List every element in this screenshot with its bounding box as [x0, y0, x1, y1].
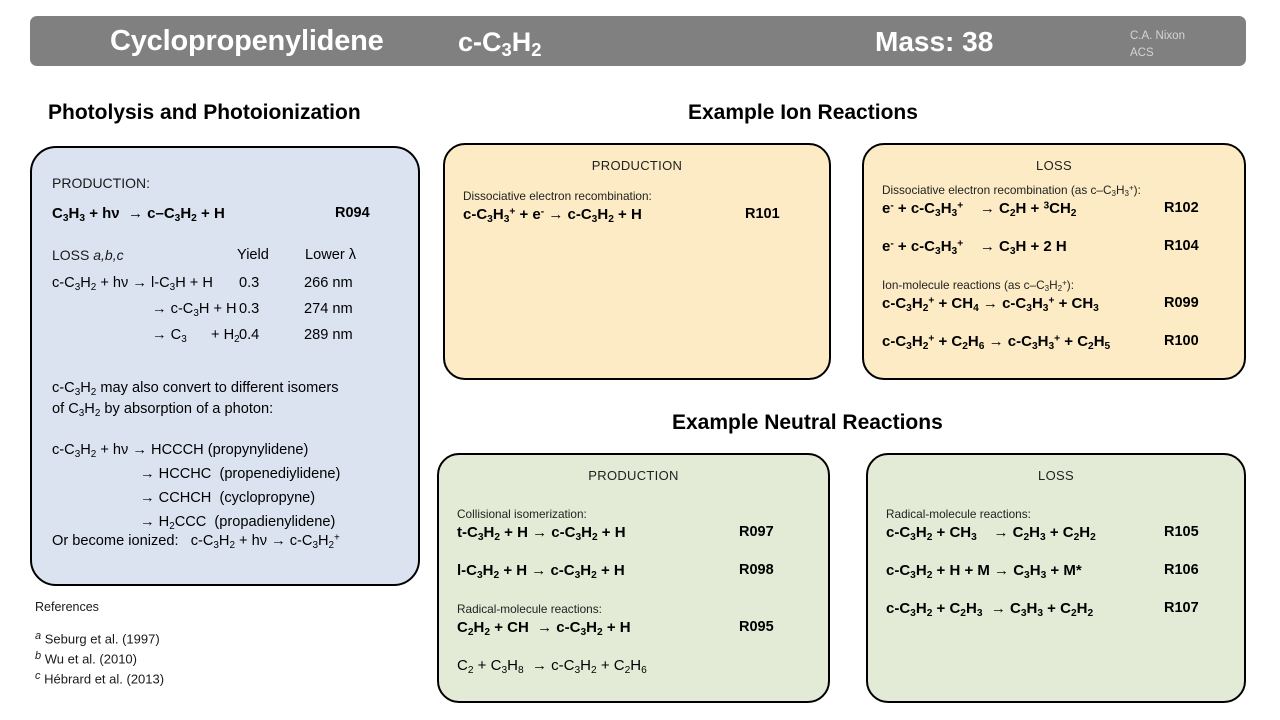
photolysis-isomer-note-2: of C3H2 by absorption of a photon: [52, 401, 273, 417]
reaction-equation: c-C3H2+ + C2H6 → c-C3H3+ + C2H5 [882, 333, 1110, 350]
reaction-id: R105 [1164, 524, 1199, 540]
credit-org: ACS [1130, 45, 1185, 62]
panel-ion-loss: LOSS Dissociative electron recombination… [862, 143, 1246, 380]
photolysis-loss-lambda: 266 nm [304, 275, 353, 291]
photolysis-loss-reaction: → C3 + H2 [152, 327, 240, 343]
photolysis-loss-lambda: 274 nm [304, 301, 353, 317]
reaction-equation: C2 + C3H8 → c-C3H2 + C2H6 [457, 657, 647, 674]
reaction-equation: e- + c-C3H3+ → C3H + 2 H [882, 238, 1067, 255]
reaction-equation: c-C3H2 + C2H3 → C3H3 + C2H2 [886, 600, 1093, 617]
section-title-photolysis: Photolysis and Photoionization [48, 101, 361, 125]
section-title-neutral-reactions: Example Neutral Reactions [672, 411, 943, 435]
photolysis-isomer-reaction: c-C3H2 + hν → HCCCH (propynylidene) [52, 442, 308, 458]
reaction-id: R107 [1164, 600, 1199, 616]
credit-author: C.A. Nixon [1130, 28, 1185, 45]
reaction-id: R106 [1164, 562, 1199, 578]
panel-heading-ion-loss: LOSS [864, 158, 1244, 173]
reaction-equation: C2H2 + CH → c-C3H2 + H [457, 619, 631, 636]
reference-item: b Wu et al. (2010) [35, 650, 137, 666]
panel-heading-neutral-loss: LOSS [868, 468, 1244, 483]
reference-item: c Hébrard et al. (2013) [35, 670, 164, 686]
reaction-group-label: Radical-molecule reactions: [886, 507, 1031, 521]
reaction-id: R101 [745, 206, 780, 222]
reaction-id: R099 [1164, 295, 1199, 311]
photolysis-production-label: PRODUCTION: [52, 175, 150, 191]
header-banner: Cyclopropenylidene c-C3H2 Mass: 38 C.A. … [30, 16, 1246, 66]
photolysis-col-yield: Yield [237, 247, 269, 263]
reaction-group-label: Collisional isomerization: [457, 507, 587, 521]
reaction-group-label: Dissociative electron recombination: [463, 189, 652, 203]
reaction-equation: e- + c-C3H3+ → C2H + 3CH2 [882, 200, 1076, 217]
reaction-id: R104 [1164, 238, 1199, 254]
reaction-id: R098 [739, 562, 774, 578]
reaction-id: R095 [739, 619, 774, 635]
panel-neutral-loss: LOSS Radical-molecule reactions:c-C3H2 +… [866, 453, 1246, 703]
panel-heading-ion-production: PRODUCTION [445, 158, 829, 173]
reference-marker: c [35, 670, 41, 682]
reaction-group-label: Ion-molecule reactions (as c–C3H2+): [882, 278, 1074, 292]
reference-item: a Seburg et al. (1997) [35, 630, 160, 646]
photolysis-loss-reaction: c-C3H2 + hν → l-C3H + H [52, 275, 213, 291]
reaction-group-label: Radical-molecule reactions: [457, 602, 602, 616]
photolysis-production-id: R094 [335, 205, 370, 221]
reaction-equation: t-C3H2 + H → c-C3H2 + H [457, 524, 626, 541]
photolysis-loss-label: LOSS a,b,c [52, 247, 124, 263]
photolysis-isomer-reaction: → H2CCC (propadienylidene) [140, 514, 335, 530]
reaction-equation: l-C3H2 + H → c-C3H2 + H [457, 562, 625, 579]
mass-label: Mass: 38 [875, 26, 993, 58]
reaction-id: R097 [739, 524, 774, 540]
reference-marker: a [35, 630, 41, 642]
photolysis-isomer-reaction: → HCCHC (propenediylidene) [140, 466, 340, 482]
reaction-equation: c-C3H2 + H + M → C3H3 + M* [886, 562, 1082, 579]
reaction-id: R102 [1164, 200, 1199, 216]
photolysis-production-reaction: C3H3 + hν → c–C3H2 + H [52, 205, 225, 222]
reference-marker: b [35, 650, 41, 662]
reaction-equation: c-C3H3+ + e- → c-C3H2 + H [463, 206, 642, 223]
molecular-formula: c-C3H2 [458, 27, 541, 58]
photolysis-loss-yield: 0.3 [239, 275, 259, 291]
section-title-ion-reactions: Example Ion Reactions [688, 101, 918, 125]
photolysis-isomer-note-1: c-C3H2 may also convert to different iso… [52, 380, 339, 396]
photolysis-isomer-reaction: → CCHCH (cyclopropyne) [140, 490, 315, 506]
photolysis-col-lambda: Lower λ [305, 247, 356, 263]
credit-block: C.A. Nixon ACS [1130, 28, 1185, 61]
panel-neutral-production: PRODUCTION Collisional isomerization:t-C… [437, 453, 830, 703]
panel-heading-neutral-production: PRODUCTION [439, 468, 828, 483]
photolysis-loss-lambda: 289 nm [304, 327, 353, 343]
page-title: Cyclopropenylidene [110, 25, 384, 58]
reaction-group-label: Dissociative electron recombination (as … [882, 183, 1141, 197]
references-heading: References [35, 600, 99, 614]
photolysis-loss-yield: 0.4 [239, 327, 259, 343]
panel-photolysis: PRODUCTION: C3H3 + hν → c–C3H2 + H R094 … [30, 146, 420, 586]
reaction-equation: c-C3H2 + CH3 → C2H3 + C2H2 [886, 524, 1096, 541]
photolysis-loss-yield: 0.3 [239, 301, 259, 317]
reaction-id: R100 [1164, 333, 1199, 349]
reaction-equation: c-C3H2+ + CH4 → c-C3H3+ + CH3 [882, 295, 1099, 312]
panel-ion-production: PRODUCTION Dissociative electron recombi… [443, 143, 831, 380]
photolysis-loss-reaction: → c-C3H + H [152, 301, 237, 317]
photolysis-ionization-reaction: Or become ionized: c-C3H2 + hν → c-C3H2+ [52, 533, 340, 549]
